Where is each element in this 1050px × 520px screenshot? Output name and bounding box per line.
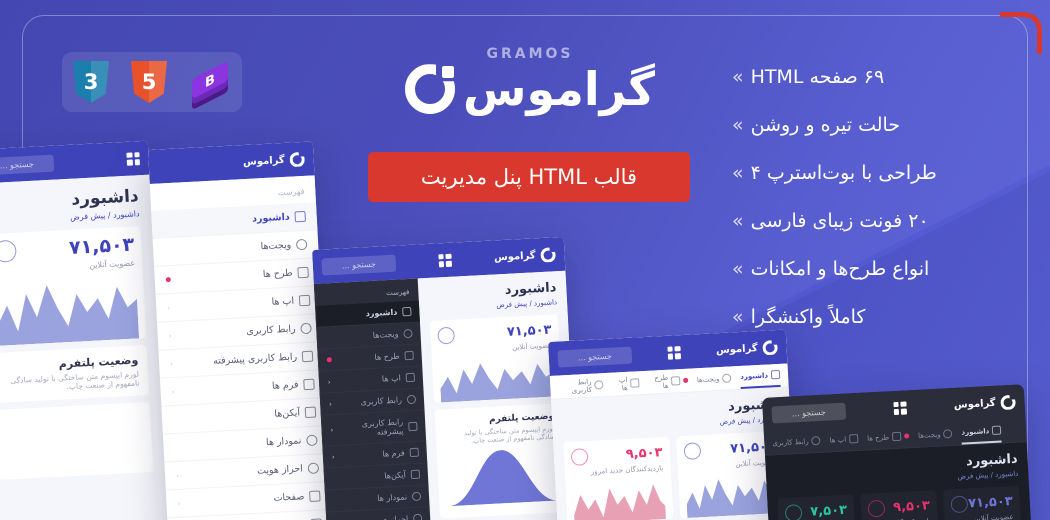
gramos-logo-icon: [1000, 394, 1016, 410]
tab-apps[interactable]: اپ ها: [612, 371, 640, 395]
trend-up-icon: [950, 495, 968, 513]
tab-layouts[interactable]: طرح ها: [648, 369, 689, 394]
feature-item: ۲۰ فونت زیبای فارسی »: [732, 210, 992, 232]
apps-grid-icon[interactable]: [438, 253, 452, 267]
chevron-icon: »: [732, 114, 744, 136]
chevron-icon: »: [732, 162, 744, 184]
chevron-icon: »: [732, 210, 744, 232]
mock5-content: داشبورد داشبورد / پیش فرض ۷۱,۵۰۳ عضویت آ…: [765, 442, 1032, 520]
sparkline-chart: [439, 355, 555, 403]
chevron-icon: ‹: [167, 304, 170, 312]
tab-ui[interactable]: رابط کاربری: [558, 373, 605, 398]
bootstrap-icon: B: [189, 61, 231, 103]
chevron-icon: ‹: [169, 332, 172, 340]
sidebar-item-label: صفحات: [273, 491, 304, 504]
stat-label: عضویت آنلاین: [951, 513, 1013, 520]
tab-label: طرح ها: [648, 373, 669, 390]
sidebar-item-label: رابط کاربری: [360, 396, 402, 407]
brand-label: گراموس: [243, 154, 285, 167]
feature-item: طراحی با بوت‌استرپ ۴ »: [732, 162, 992, 184]
feature-text: کاملاً واکنشگرا: [751, 306, 866, 328]
html5-icon: 5: [131, 61, 167, 103]
dashboard-mockup-dark-theme[interactable]: گراموس جستجو ... داشبورد ویجت‌ها طرح ها …: [762, 384, 1032, 520]
tab-label: رابط کاربری: [772, 437, 809, 447]
stat-card[interactable]: ۷,۵۰۳ بازدید سایت: [777, 494, 858, 520]
chevron-icon: ‹: [332, 453, 335, 461]
brand-label: گراموس: [954, 397, 996, 410]
chevron-icon: »: [732, 66, 744, 88]
chevron-icon: ‹: [176, 471, 179, 479]
feature-text: طراحی با بوت‌استرپ ۴: [751, 162, 937, 184]
css3-letter: 3: [84, 70, 99, 94]
sparkline-chart: [685, 471, 779, 518]
platform-status-panel: وضعیت پلتفرم لورم ایپسوم متن ساختگی با ت…: [0, 345, 149, 403]
sidebar-item-label: داشبورد: [252, 212, 290, 225]
tech-badges: B 5 3: [62, 52, 242, 112]
feature-text: حالت تیره و روشن: [751, 114, 900, 136]
feature-text: ۲۰ فونت زیبای فارسی: [751, 210, 929, 232]
promo-banner: B 5 3 GRAMOS گراموس قالب HTML پنل مدیریت…: [0, 0, 1050, 520]
trend-up-icon: [683, 442, 701, 460]
sidebar-item-label: ویجت‌ها: [373, 330, 399, 340]
sidebar-item-label: طرح ها: [263, 268, 293, 281]
stat-card[interactable]: ۹,۵۰۳ بازدیدکنندگان جدید امروز: [860, 490, 941, 520]
brand-label: گراموس: [716, 343, 758, 356]
chevron-icon: ‹: [328, 378, 331, 386]
sidebar-menu: فهرست داشبورد ویجت‌ها طرح ها اپ ها ‹ راب…: [150, 175, 334, 520]
notification-dot: [904, 433, 909, 438]
tab-label: ویجت‌ها: [918, 430, 941, 439]
brand-name: گراموس: [463, 64, 655, 115]
gramos-ring-logo-icon: [405, 64, 455, 114]
feature-text: انواع طرح‌ها و امکانات: [751, 258, 930, 280]
chevron-icon: ‹: [177, 499, 180, 507]
brand-block: GRAMOS گراموس: [340, 46, 720, 115]
chevron-icon: »: [732, 306, 744, 328]
sidebar-item-label: احراز هویت: [369, 514, 408, 520]
mock3-brand: گراموس: [494, 247, 556, 265]
sidebar-item-label: رابط کاربری: [246, 324, 296, 338]
feature-item: حالت تیره و روشن »: [732, 114, 992, 136]
tab-widgets[interactable]: ویجت‌ها: [917, 422, 953, 447]
tab-label: ویجت‌ها: [697, 375, 720, 384]
gramos-logo-icon: [762, 340, 778, 356]
panel-text: لورم ایپسوم متن ساختگی با تولید سادگی نا…: [3, 369, 140, 394]
sidebar-item-label: طرح ها: [374, 352, 400, 362]
gramos-logo-icon: [289, 151, 305, 167]
html5-letter: 5: [142, 70, 157, 94]
trend-up-icon: [437, 327, 455, 345]
mock1-content: داشبورد داشبورد / پیش فرض ۷۱,۵۰۳ عضویت آ…: [0, 175, 169, 520]
apps-grid-icon[interactable]: [893, 401, 907, 415]
stat-label: عضویت آنلاین: [684, 458, 776, 471]
sidebar-item-label: داشبورد: [365, 308, 397, 319]
sidebar-item-label: فرم ها: [272, 379, 299, 391]
stat-label: بازدیدکنندگان جدید امروز: [572, 464, 664, 477]
sidebar-item-label: اپ ها: [382, 374, 401, 384]
mock2-brand: گراموس: [243, 151, 305, 169]
sidebar-item-label: فرم ها: [382, 448, 405, 458]
sidebar-item-label: اپ ها: [271, 296, 294, 308]
tab-label: داشبورد: [961, 427, 989, 436]
sidebar-item-label: رابط کاربری پیشرفته: [333, 417, 404, 439]
stat-card[interactable]: ۷۱,۵۰۳ عضویت آنلاین: [430, 314, 562, 403]
chevron-icon: ‹: [329, 400, 332, 408]
search-input[interactable]: جستجو ...: [321, 254, 396, 275]
notification-dot: [166, 277, 171, 282]
sidebar-item-label: ویجت‌ها: [260, 240, 291, 253]
trend-up-icon: [0, 240, 17, 263]
feature-item: ۶۹ صفحه HTML »: [732, 66, 992, 88]
stat-value: ۷۱,۵۰۳: [507, 323, 552, 340]
sidebar-item-label: نمودار ها: [377, 492, 407, 503]
brand-kicker: GRAMOS: [340, 46, 720, 62]
mock5-brand: گراموس: [954, 394, 1016, 412]
red-corner-accent: [1000, 12, 1042, 54]
search-input[interactable]: جستجو ...: [0, 154, 54, 175]
css3-icon: 3: [73, 61, 109, 103]
tab-label: اپ ها: [829, 435, 846, 444]
user-icon: [868, 500, 886, 518]
sidebar-item-label: نمودار ها: [266, 435, 302, 448]
stat-card[interactable]: ۹,۵۰۳ بازدیدکنندگان جدید امروز: [563, 437, 673, 520]
stat-card-list: ۷۱,۵۰۳ عضویت آنلاین: [0, 226, 146, 346]
stat-value: ۷۱,۵۰۳: [68, 234, 134, 259]
mock4-content: داشبورد داشبورد / پیش فرض ۷۱,۵۰۳ عضویت آ…: [551, 387, 797, 520]
sparkline-chart: [0, 272, 139, 345]
feature-item: انواع طرح‌ها و امکانات »: [732, 258, 992, 280]
sidebar-item-label: رابط کاربری پیشرفته: [213, 351, 297, 366]
tab-label: رابط کاربری: [558, 377, 592, 395]
stat-value: ۹,۵۰۳: [893, 498, 930, 515]
tab-dashboard[interactable]: داشبورد: [961, 420, 1002, 445]
brand-label: گراموس: [494, 250, 536, 263]
tab-layouts[interactable]: طرح ها: [867, 424, 910, 449]
tab-apps[interactable]: اپ ها: [829, 427, 859, 451]
feature-list: ۶۹ صفحه HTML » حالت تیره و روشن » طراحی …: [732, 66, 992, 354]
stat-card[interactable]: ۷۱,۵۰۳ عضویت آنلاین: [0, 226, 146, 346]
mock4-brand: گراموس: [716, 340, 778, 358]
chevron-icon: ‹: [171, 387, 174, 395]
apps-grid-icon[interactable]: [126, 152, 140, 166]
dashboard-mockup-light-sidebar[interactable]: گراموس فهرست داشبورد ویجت‌ها طرح ها اپ ه…: [148, 141, 334, 520]
tab-dashboard[interactable]: داشبورد: [740, 364, 781, 389]
chevron-icon: ‹: [170, 359, 173, 367]
tab-label: طرح ها: [867, 433, 889, 442]
feature-text: ۶۹ صفحه HTML: [751, 66, 885, 88]
cta-badge: قالب HTML پنل مدیریت: [368, 152, 690, 202]
tab-widgets[interactable]: ویجت‌ها: [696, 366, 732, 391]
eye-icon: [785, 504, 803, 520]
sidebar-item-label: آیکن‌ها: [274, 407, 300, 419]
stat-label: عضویت آنلاین: [438, 342, 552, 356]
stat-value: ۹,۵۰۳: [625, 445, 662, 462]
chart-panel: [0, 402, 153, 480]
user-icon: [571, 448, 589, 466]
search-input[interactable]: جستجو ...: [557, 346, 632, 367]
bell-curve-chart: [446, 445, 559, 507]
notification-dot: [327, 357, 332, 362]
chevron-icon: ‹: [330, 426, 333, 434]
sidebar-item-label: آیکن‌ها: [384, 470, 406, 480]
panel-text: لورم ایپسوم متن ساختگی با تولید سادگی نا…: [445, 425, 556, 447]
search-input[interactable]: جستجو ...: [771, 402, 846, 423]
feature-item: کاملاً واکنشگرا »: [732, 306, 992, 328]
dashboard-mockup-light-content[interactable]: جستجو ... داشبورد داشبورد / پیش فرض ۷۱,۵…: [0, 141, 169, 520]
sidebar-menu-dark: فهرست داشبورد ویجت‌ها طرح ها اپ ها ‹ راب…: [314, 279, 432, 520]
sparkline-chart: [572, 477, 666, 520]
dashboard-mockup-dark-sidebar[interactable]: گراموس جستجو ... داشبورد داشبورد / پیش ف…: [312, 237, 579, 520]
apps-grid-icon[interactable]: [667, 346, 681, 360]
stat-value: ۷,۵۰۳: [810, 503, 847, 520]
chevron-icon: »: [732, 258, 744, 280]
notification-dot: [683, 378, 688, 383]
platform-status-panel: وضعیت پلتفرم لورم ایپسوم متن ساختگی با ت…: [435, 403, 569, 519]
dashboard-mockup-horizontal-nav[interactable]: گراموس جستجو ... داشبورد ویجت‌ها طرح ها …: [548, 330, 797, 520]
stat-value: ۷۱,۵۰۳: [968, 494, 1013, 511]
tab-ui[interactable]: رابط کاربری: [772, 429, 821, 454]
tab-label: داشبورد: [740, 371, 768, 380]
sidebar-item-label: احراز هویت: [257, 463, 303, 476]
gramos-logo-icon: [540, 247, 556, 263]
tab-label: اپ ها: [612, 375, 628, 392]
stat-card[interactable]: ۷۱,۵۰۳ عضویت آنلاین: [943, 486, 1024, 520]
